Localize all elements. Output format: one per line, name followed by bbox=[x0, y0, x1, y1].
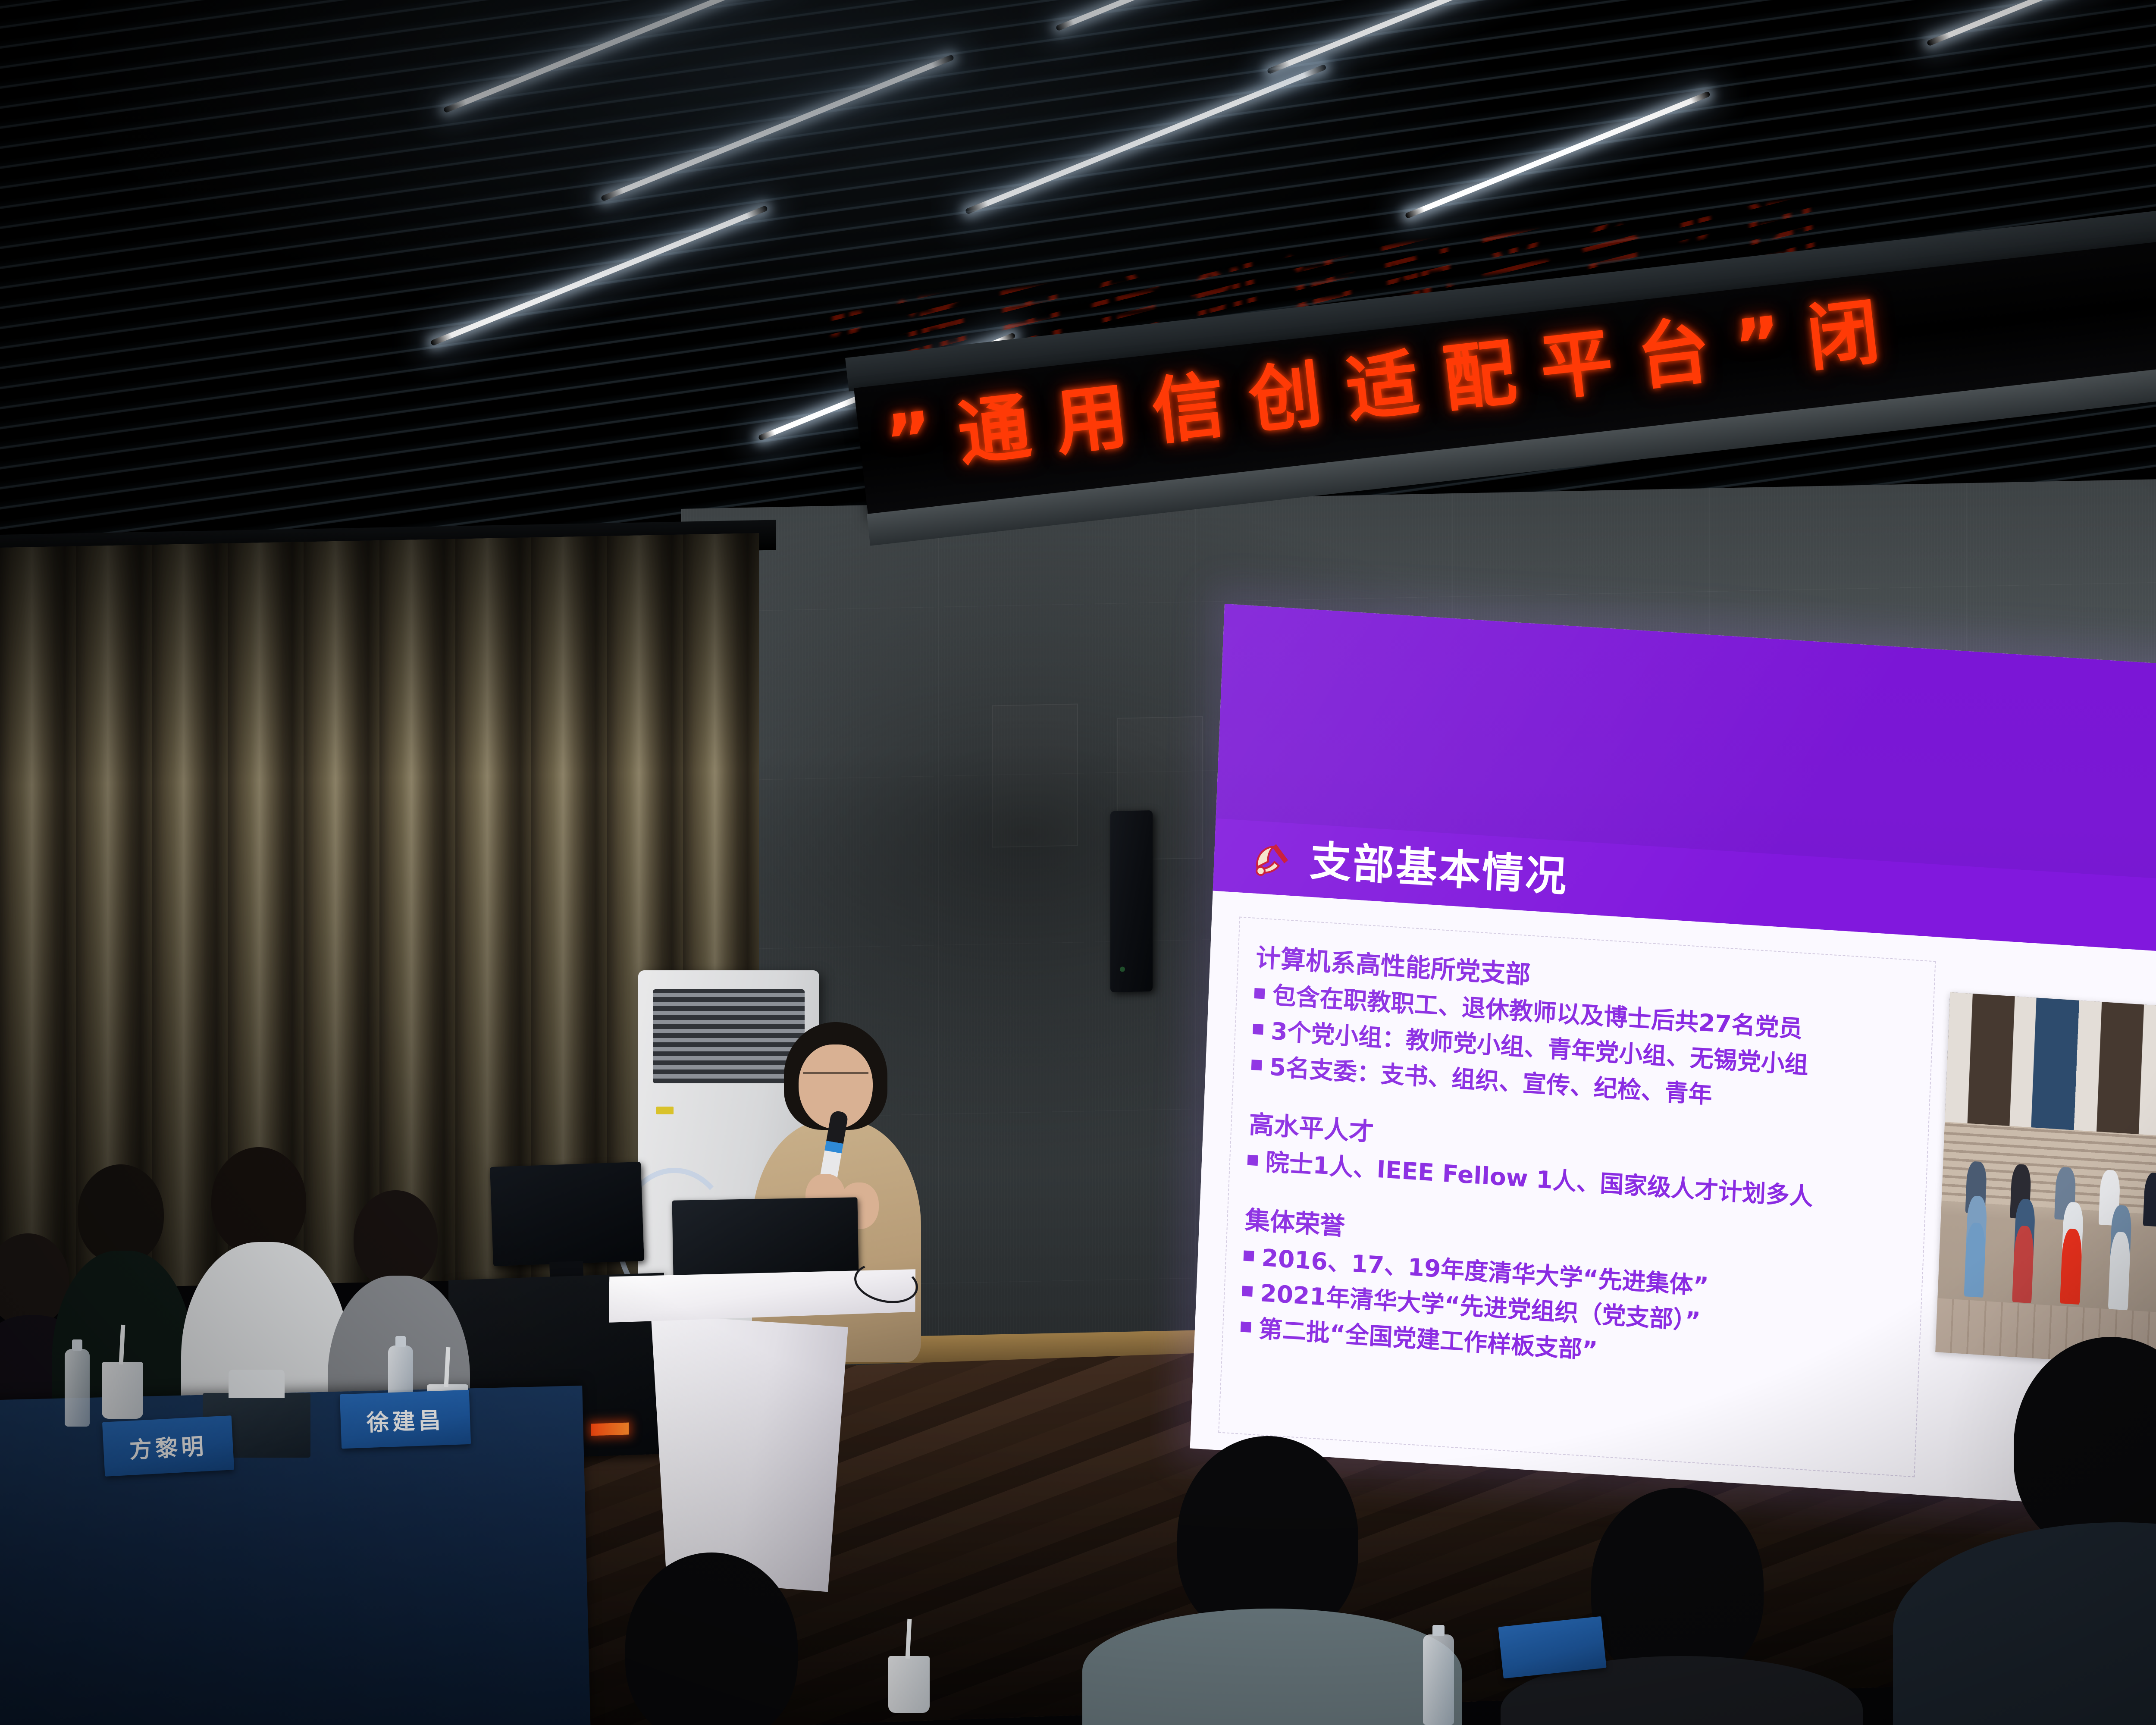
foreground-attendee bbox=[1112, 1436, 1432, 1725]
podium-body bbox=[635, 1314, 862, 1592]
nameplate-blank bbox=[1498, 1616, 1606, 1678]
ceiling-light-tube bbox=[1405, 91, 1711, 219]
water-bottle bbox=[65, 1349, 90, 1427]
bullet-square-icon bbox=[1241, 1321, 1251, 1333]
attendee-head bbox=[1591, 1488, 1764, 1682]
paper-cup bbox=[102, 1362, 143, 1419]
paper-cup bbox=[888, 1656, 930, 1713]
presentation-laptop bbox=[672, 1197, 859, 1278]
attendee-head bbox=[625, 1552, 798, 1725]
ceiling-light-tube bbox=[430, 205, 768, 346]
attendee-head bbox=[211, 1147, 306, 1255]
ac-label-sticker bbox=[656, 1107, 674, 1114]
ceiling-light-tube bbox=[443, 0, 805, 113]
ceiling-light-tube bbox=[601, 54, 955, 202]
attendee-head bbox=[354, 1190, 438, 1287]
wall-mounted-speaker bbox=[1110, 810, 1153, 992]
confidence-monitor bbox=[490, 1162, 644, 1266]
attendee-head bbox=[78, 1164, 164, 1264]
bullet-square-icon bbox=[1247, 1155, 1258, 1166]
group-photo bbox=[1935, 992, 2156, 1390]
foreground-attendee bbox=[552, 1552, 880, 1725]
water-bottle bbox=[1423, 1634, 1454, 1725]
presenter-glasses bbox=[803, 1072, 868, 1083]
podium bbox=[607, 1267, 916, 1597]
ceiling-light-tube bbox=[1056, 0, 1338, 31]
wall-panel bbox=[992, 704, 1078, 848]
foreground-attendee bbox=[1526, 1488, 1837, 1725]
ceiling-light-tube bbox=[1267, 0, 1629, 75]
bullet-square-icon bbox=[1253, 1024, 1263, 1035]
ceiling-light-tube bbox=[1927, 0, 2156, 47]
nameplate-text: 方黎明 bbox=[128, 1428, 208, 1464]
ceiling-light-tube bbox=[965, 64, 1327, 214]
slide-title: 支部基本情况 bbox=[1309, 840, 1569, 898]
foreground-attendee bbox=[1932, 1337, 2156, 1725]
attendee-head bbox=[2014, 1337, 2156, 1552]
slide-text-block: 计算机系高性能所党支部 包含在职教职工、退休教师以及博士后共27名党员 3个党小… bbox=[1218, 917, 1936, 1477]
bullet-square-icon bbox=[1244, 1250, 1254, 1261]
nameplate: 徐建昌 bbox=[340, 1390, 471, 1449]
bullet-square-icon bbox=[1254, 988, 1265, 999]
nameplate: 方黎明 bbox=[102, 1415, 234, 1477]
bullet-square-icon bbox=[1251, 1059, 1262, 1070]
attendee-shoulders bbox=[1082, 1609, 1462, 1725]
attendee-shoulders bbox=[1893, 1522, 2156, 1725]
bullet-square-icon bbox=[1242, 1286, 1253, 1297]
nameplate-text: 徐建昌 bbox=[366, 1402, 445, 1436]
cpc-emblem-icon bbox=[1250, 834, 1297, 882]
conference-hall-photo: ” 通 用 信 创 适 配 平 台 ” 闭 ” 通 用 信 创 适 配 平 台 … bbox=[0, 0, 2156, 1725]
